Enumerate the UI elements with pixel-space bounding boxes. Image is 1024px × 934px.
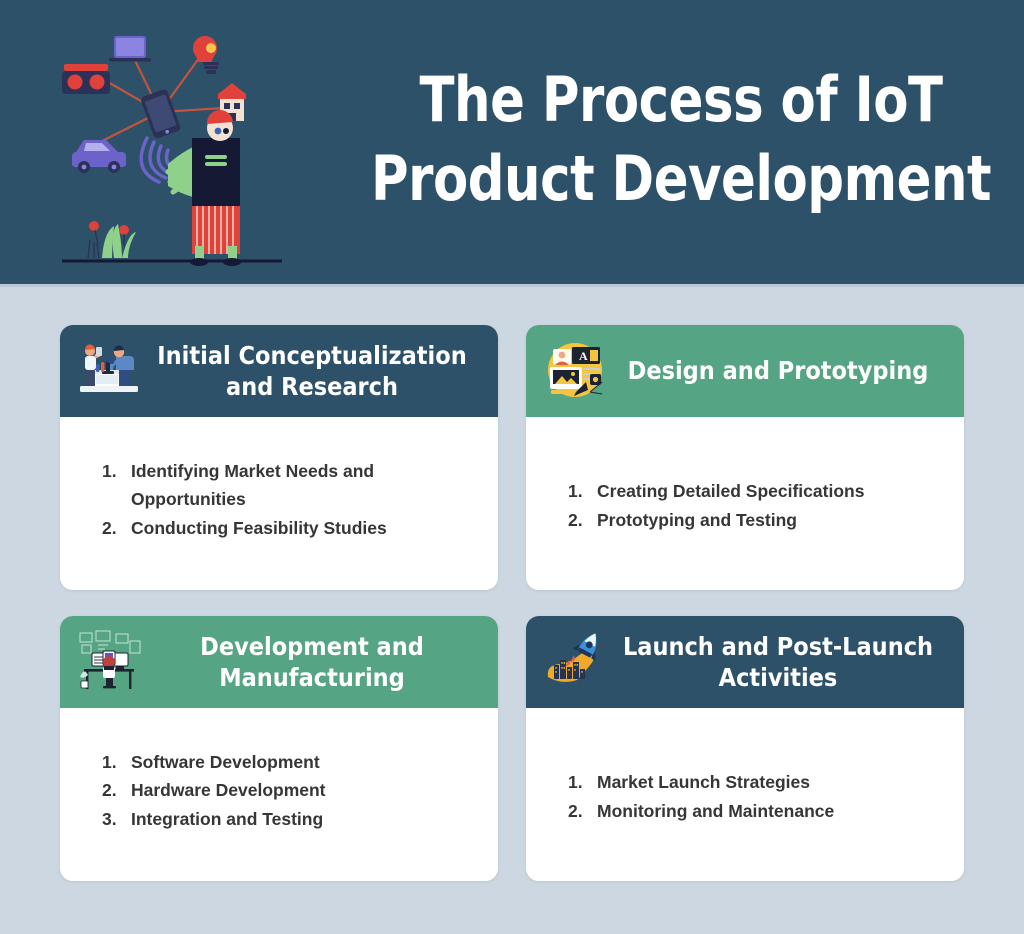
card-header: Launch and Post-Launch Activities (526, 616, 964, 708)
process-card-design-prototyping[interactable]: A (526, 325, 964, 590)
svg-text:A: A (579, 349, 588, 363)
iot-person-connected-devices-illustration (42, 12, 342, 272)
vr-goggles-icon (62, 64, 110, 94)
card-body: Identifying Market Needs and Opportuniti… (60, 417, 498, 590)
developer-at-desk-icon (72, 625, 146, 699)
card-title: Design and Prototyping (612, 355, 948, 386)
page-header-banner: The Process of IoT Product Development (0, 0, 1024, 284)
footer-spacer (0, 881, 1024, 915)
card-header: Initial Conceptualization and Research (60, 325, 498, 417)
list-item: Prototyping and Testing (568, 506, 934, 534)
card-title: Initial Conceptualization and Research (146, 340, 482, 403)
page-title-line-2: Product Development (371, 139, 991, 218)
card-step-list: Identifying Market Needs and Opportuniti… (90, 457, 468, 542)
rocket-launch-city-icon (538, 625, 612, 699)
list-item: Market Launch Strategies (568, 768, 934, 796)
process-card-launch-post-launch[interactable]: Launch and Post-Launch Activities Market… (526, 616, 964, 881)
card-title: Launch and Post-Launch Activities (612, 631, 948, 694)
laptop-icon (109, 36, 151, 62)
card-body: Creating Detailed Specifications Prototy… (526, 417, 964, 590)
person-figure (168, 110, 241, 266)
page-title-line-1: The Process of IoT (371, 60, 991, 139)
process-card-development-manufacturing[interactable]: Development and Manufacturing Software D… (60, 616, 498, 881)
process-steps-grid: Initial Conceptualization and Research I… (0, 287, 1024, 881)
page-title: The Process of IoT Product Development (371, 60, 1024, 225)
card-body: Software Development Hardware Developmen… (60, 708, 498, 881)
sketch-background (80, 631, 140, 653)
card-body: Market Launch Strategies Monitoring and … (526, 708, 964, 881)
seated-developer (103, 656, 116, 688)
lab-research-scientists-icon (72, 334, 146, 408)
card-step-list: Software Development Hardware Developmen… (90, 748, 468, 833)
card-header: A (526, 325, 964, 417)
car-icon (72, 140, 126, 173)
list-item: Integration and Testing (102, 805, 468, 833)
smartphone-icon (140, 88, 181, 139)
foliage-decoration (88, 221, 136, 258)
rocket-icon (573, 627, 607, 660)
list-item: Conducting Feasibility Studies (102, 514, 468, 542)
list-item: Creating Detailed Specifications (568, 477, 934, 505)
list-item: Identifying Market Needs and Opportuniti… (102, 457, 468, 514)
card-step-list: Creating Detailed Specifications Prototy… (556, 477, 934, 534)
process-card-initial-conceptualization[interactable]: Initial Conceptualization and Research I… (60, 325, 498, 590)
lightbulb-icon (193, 36, 219, 74)
design-tools-graphics-icon: A (538, 334, 612, 408)
card-title: Development and Manufacturing (146, 631, 482, 694)
card-step-list: Market Launch Strategies Monitoring and … (556, 768, 934, 825)
list-item: Hardware Development (102, 776, 468, 804)
list-item: Monitoring and Maintenance (568, 797, 934, 825)
card-header: Development and Manufacturing (60, 616, 498, 708)
list-item: Software Development (102, 748, 468, 776)
